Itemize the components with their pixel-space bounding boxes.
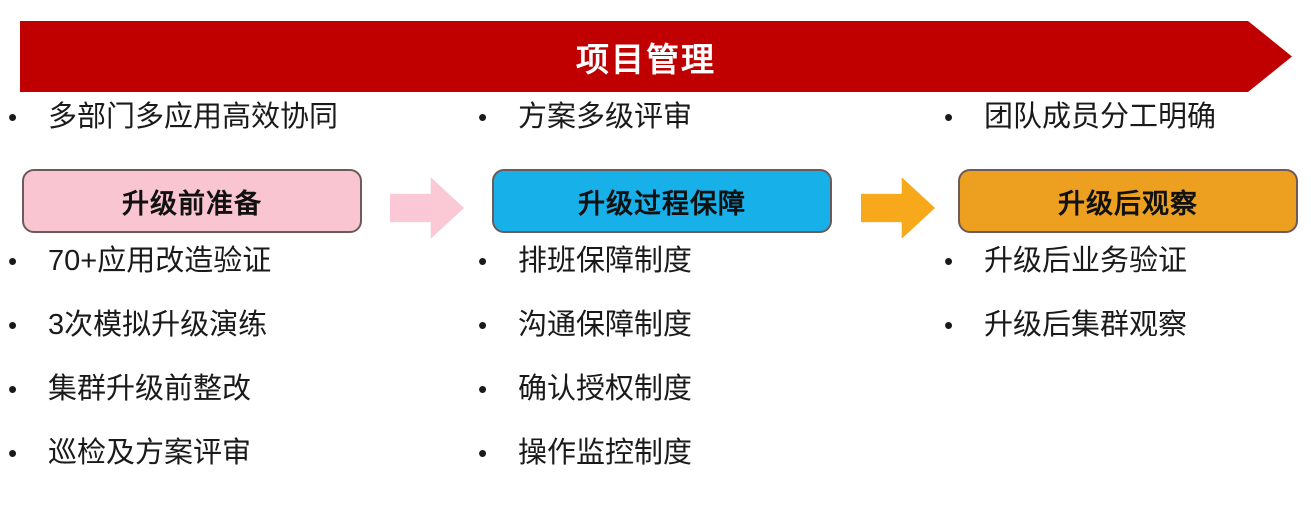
list-item: • 方案多级评审 — [478, 103, 843, 167]
list-item: • 3次模拟升级演练 — [8, 311, 428, 375]
list-item: • 操作监控制度 — [478, 439, 843, 503]
list-item-label: 3次模拟升级演练 — [48, 311, 267, 340]
list-item: • 多部门多应用高效协同 — [8, 103, 428, 167]
stage-box-label: 升级过程保障 — [578, 182, 746, 221]
bullet-icon: • — [8, 248, 18, 274]
list-item-label: 集群升级前整改 — [48, 375, 251, 404]
right-arrow-icon — [861, 176, 935, 240]
list-item: • 团队成员分工明确 — [944, 103, 1304, 167]
arrow-stage2-to-stage3 — [861, 176, 935, 240]
bullet-icon: • — [478, 440, 488, 466]
bullet-icon: • — [944, 312, 954, 338]
list-item-label: 沟通保障制度 — [518, 311, 692, 340]
list-item-label: 70+应用改造验证 — [48, 247, 271, 276]
list-item: • 巡检及方案评审 — [8, 439, 428, 503]
bullet-icon: • — [478, 312, 488, 338]
column-post-upgrade-observation: • 团队成员分工明确 升级后观察 • 升级后业务验证 • 升级后集群观察 — [944, 103, 1304, 375]
list-item-label: 排班保障制度 — [518, 247, 692, 276]
bullet-icon: • — [8, 376, 18, 402]
bullet-icon: • — [478, 248, 488, 274]
list-item-label: 方案多级评审 — [518, 103, 692, 132]
stage-box-post-upgrade-observation[interactable]: 升级后观察 — [958, 169, 1298, 233]
bullet-icon: • — [8, 104, 18, 130]
stage-box-upgrade-preparation[interactable]: 升级前准备 — [22, 169, 362, 233]
stage-box-wrapper: 升级过程保障 — [478, 169, 843, 241]
column-upgrade-preparation: • 多部门多应用高效协同 升级前准备 • 70+应用改造验证 • 3次模拟升级演… — [8, 103, 428, 503]
list-item: • 排班保障制度 — [478, 247, 843, 311]
column-upgrade-process-assurance: • 方案多级评审 升级过程保障 • 排班保障制度 • 沟通保障制度 • 确认授权… — [478, 103, 843, 503]
header-banner: 项目管理 — [20, 21, 1292, 92]
list-item-label: 升级后业务验证 — [984, 247, 1187, 276]
list-item: • 确认授权制度 — [478, 375, 843, 439]
list-item: • 升级后业务验证 — [944, 247, 1304, 311]
stage-box-label: 升级前准备 — [122, 182, 262, 221]
list-item-label: 升级后集群观察 — [984, 311, 1187, 340]
list-item-label: 确认授权制度 — [518, 375, 692, 404]
bullet-icon: • — [944, 104, 954, 130]
list-item: • 沟通保障制度 — [478, 311, 843, 375]
list-item: • 升级后集群观察 — [944, 311, 1304, 375]
bullet-icon: • — [478, 104, 488, 130]
list-item: • 70+应用改造验证 — [8, 247, 428, 311]
stage-box-wrapper: 升级后观察 — [944, 169, 1304, 241]
list-item: • 集群升级前整改 — [8, 375, 428, 439]
page-title: 项目管理 — [20, 21, 1292, 92]
bullet-icon: • — [8, 312, 18, 338]
bullet-icon: • — [478, 376, 488, 402]
list-item-label: 巡检及方案评审 — [48, 439, 251, 468]
list-item-label: 团队成员分工明确 — [984, 103, 1216, 132]
list-item-label: 多部门多应用高效协同 — [48, 103, 338, 132]
stage-box-upgrade-process-assurance[interactable]: 升级过程保障 — [492, 169, 832, 233]
stage-box-label: 升级后观察 — [1058, 182, 1198, 221]
list-item-label: 操作监控制度 — [518, 439, 692, 468]
bullet-icon: • — [944, 248, 954, 274]
bullet-icon: • — [8, 440, 18, 466]
stage-box-wrapper: 升级前准备 — [8, 169, 428, 241]
